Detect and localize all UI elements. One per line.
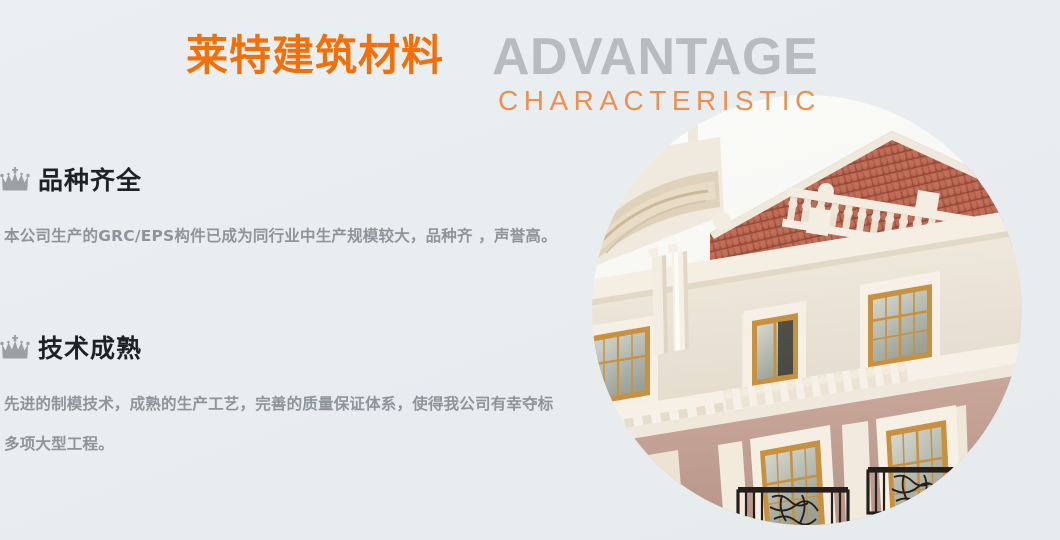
advantage-banner: ADVANTAGE CHARACTERISTIC 莱特建筑材料 xyxy=(0,0,1060,540)
feature-block: 技术成熟 先进的制模技术，成熟的生产工艺，完善的质量保证体系，使得我公司有幸夺标… xyxy=(0,326,580,464)
banner-header: ADVANTAGE CHARACTERISTIC 莱特建筑材料 xyxy=(186,28,886,118)
feature-body: 本公司生产的GRC/EPS构件已成为同行业中生产规模较大，品种齐 ，声誉高。 xyxy=(0,216,560,256)
feature-heading: 品种齐全 xyxy=(0,158,580,200)
crown-icon xyxy=(0,334,30,360)
subtitle-english: CHARACTERISTIC xyxy=(498,84,821,118)
feature-title: 技术成熟 xyxy=(38,329,142,365)
feature-heading: 技术成熟 xyxy=(0,326,580,368)
feature-block: 品种齐全 本公司生产的GRC/EPS构件已成为同行业中生产规模较大，品种齐 ，声… xyxy=(0,158,580,256)
european-villa-photo xyxy=(592,95,1022,525)
title-row: ADVANTAGE CHARACTERISTIC 莱特建筑材料 xyxy=(186,28,886,90)
feature-body: 先进的制模技术，成熟的生产工艺，完善的质量保证体系，使得我公司有幸夺标多项大型工… xyxy=(0,384,560,464)
title-chinese: 莱特建筑材料 xyxy=(186,28,444,84)
feature-title: 品种齐全 xyxy=(38,161,142,197)
title-english: ADVANTAGE xyxy=(492,22,818,92)
crown-icon xyxy=(0,166,30,192)
